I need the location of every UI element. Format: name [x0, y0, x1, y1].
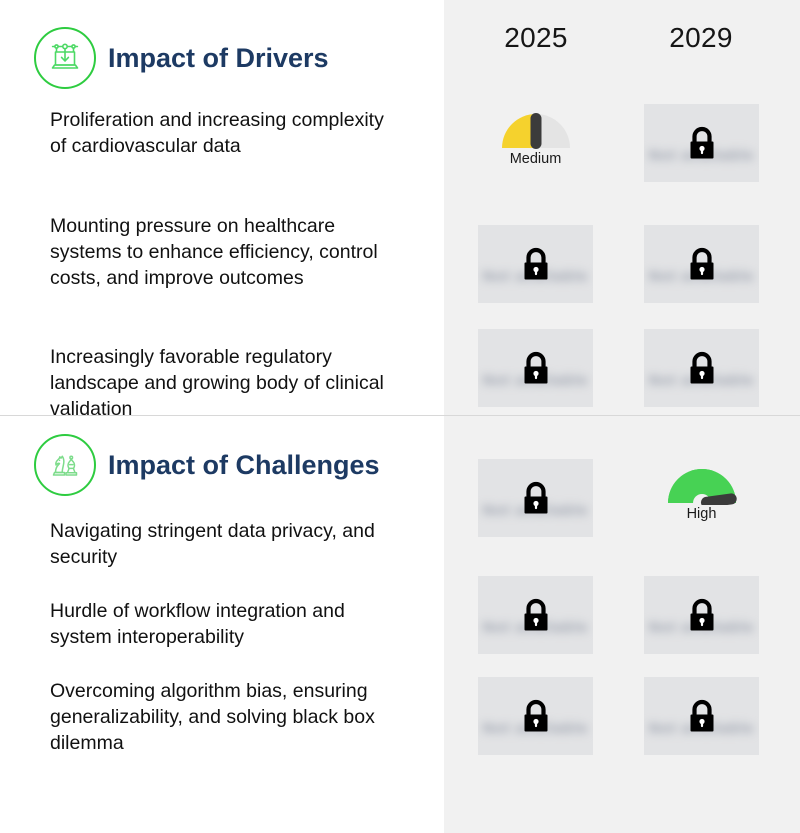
rating-cell-challenges-2-2029[interactable]: Not available: [644, 576, 759, 654]
locked-tile[interactable]: Not available: [478, 459, 593, 537]
lock-icon: [519, 696, 553, 736]
rating-cell-challenges-3-2025[interactable]: Not available: [478, 677, 593, 755]
locked-tile[interactable]: Not available: [644, 677, 759, 755]
rating-cell-challenges-1-2029[interactable]: High: [644, 459, 759, 537]
locked-tile[interactable]: Not available: [644, 576, 759, 654]
rating-cell-challenges-3-2029[interactable]: Not available: [644, 677, 759, 755]
lock-icon: [519, 348, 553, 388]
gauge-label-high: High: [687, 507, 717, 522]
column-header-2029: 2029: [641, 22, 761, 54]
gauge-arc-medium: [498, 104, 574, 150]
chess-pieces-icon: [34, 434, 96, 496]
rating-cell-drivers-3-2029[interactable]: Not available: [644, 329, 759, 407]
rating-cell-challenges-2-2025[interactable]: Not available: [478, 576, 593, 654]
section-title-drivers: Impact of Drivers: [108, 45, 329, 72]
rating-cell-drivers-2-2029[interactable]: Not available: [644, 225, 759, 303]
section-title-challenges: Impact of Challenges: [108, 452, 380, 479]
challenge-row-text-3: Overcoming algorithm bias, ensuring gene…: [50, 679, 400, 757]
column-header-2025: 2025: [476, 22, 596, 54]
rating-cell-drivers-1-2025[interactable]: Medium: [478, 104, 593, 182]
section-header-challenges: Impact of Challenges: [34, 434, 380, 496]
data-to-laptop-icon: [34, 27, 96, 89]
lock-icon: [519, 478, 553, 518]
locked-tile[interactable]: Not available: [644, 329, 759, 407]
section-header-drivers: Impact of Drivers: [34, 27, 329, 89]
gauge-high: High: [644, 459, 759, 537]
lock-icon: [519, 595, 553, 635]
driver-row-text-1: Proliferation and increasing complexity …: [50, 108, 400, 160]
lock-icon: [685, 244, 719, 284]
driver-row-text-3: Increasingly favorable regulatory landsc…: [50, 345, 400, 423]
rating-cell-drivers-3-2025[interactable]: Not available: [478, 329, 593, 407]
challenge-row-text-2: Hurdle of workflow integration and syste…: [50, 599, 400, 651]
locked-tile[interactable]: Not available: [644, 225, 759, 303]
locked-tile[interactable]: Not available: [478, 225, 593, 303]
gauge-label-medium: Medium: [510, 152, 562, 167]
locked-tile[interactable]: Not available: [478, 576, 593, 654]
rating-cell-drivers-1-2029[interactable]: Not available: [644, 104, 759, 182]
challenge-row-text-1: Navigating stringent data privacy, and s…: [50, 519, 400, 571]
lock-icon: [685, 696, 719, 736]
gauge-medium: Medium: [478, 104, 593, 182]
locked-tile[interactable]: Not available: [644, 104, 759, 182]
locked-tile[interactable]: Not available: [478, 329, 593, 407]
lock-icon: [685, 595, 719, 635]
lock-icon: [685, 348, 719, 388]
gauge-arc-high: [664, 459, 740, 505]
lock-icon: [519, 244, 553, 284]
lock-icon: [685, 123, 719, 163]
locked-tile[interactable]: Not available: [478, 677, 593, 755]
rating-cell-challenges-1-2025[interactable]: Not available: [478, 459, 593, 537]
driver-row-text-2: Mounting pressure on healthcare systems …: [50, 214, 400, 292]
impact-matrix-page: 2025 2029 Impact of Drivers: [0, 0, 800, 833]
rating-cell-drivers-2-2025[interactable]: Not available: [478, 225, 593, 303]
